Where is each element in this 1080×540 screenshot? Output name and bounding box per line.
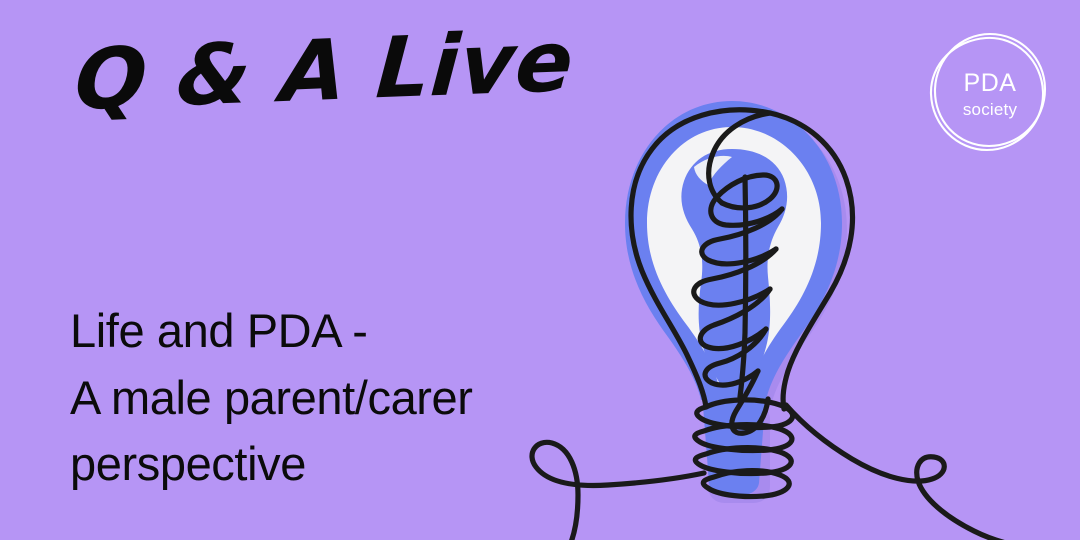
page-title: Q & A Live	[72, 19, 576, 122]
logo-secondary-text: society	[963, 100, 1018, 119]
subtitle-line-3: perspective	[70, 431, 630, 498]
subtitle-block: Life and PDA - A male parent/carer persp…	[70, 298, 630, 498]
logo-primary-text: PDA	[964, 69, 1017, 97]
poster-canvas: Q & A Live Life and PDA - A male parent/…	[0, 0, 1080, 540]
pda-society-logo: PDA society	[920, 20, 1060, 160]
subtitle-line-2: A male parent/carer	[70, 365, 630, 432]
subtitle-line-1: Life and PDA -	[70, 298, 630, 365]
